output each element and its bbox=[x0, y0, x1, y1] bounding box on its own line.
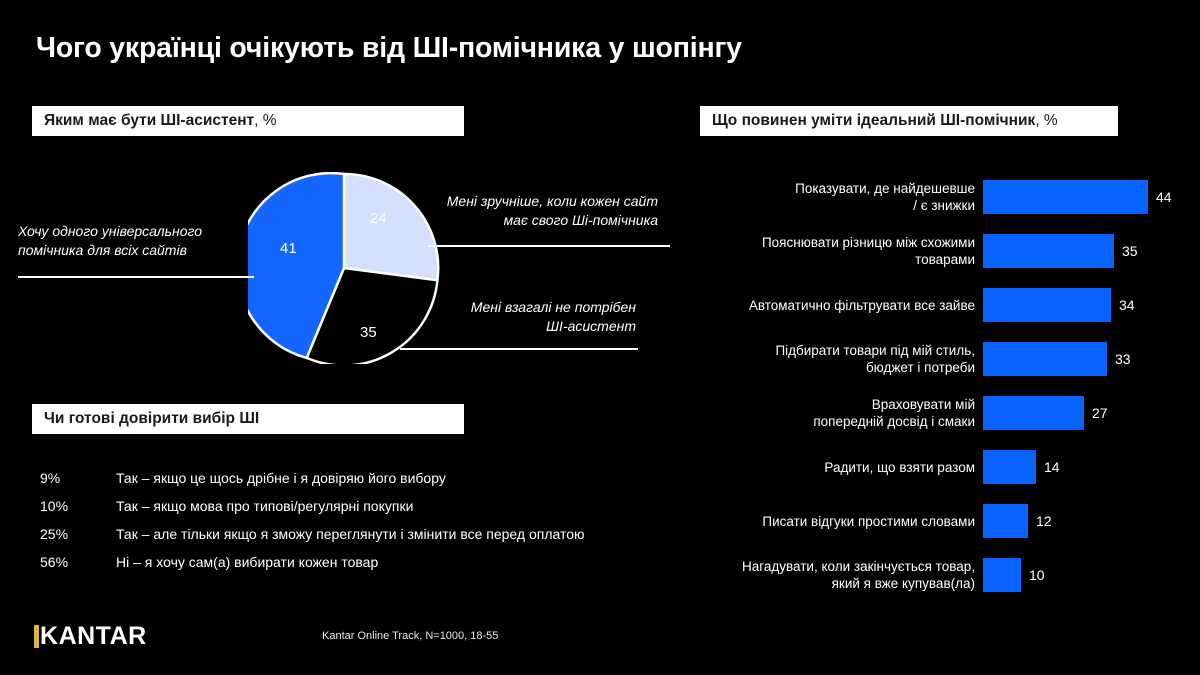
section-header-bars-text: Що повинен уміти ідеальний ШІ-помічник, … bbox=[712, 112, 1058, 130]
bar-chart: Показувати, де найдешевше/ є знижки44Поя… bbox=[700, 168, 1180, 612]
bar-label-line1: Пояснювати різницю між схожими bbox=[700, 234, 975, 251]
leader-line-left bbox=[18, 276, 254, 278]
bar-row: Підбирати товари під мій стиль,бюджет і … bbox=[700, 342, 1180, 376]
bar-track: 35 bbox=[983, 234, 1180, 268]
trust-row: 9%Так – якщо це щось дрібне і я довіряю … bbox=[40, 470, 680, 498]
bar-value: 12 bbox=[1036, 513, 1052, 529]
logo-text: KANTAR bbox=[40, 622, 147, 651]
bar-row: Писати відгуки простими словами12 bbox=[700, 504, 1180, 538]
pie-callout-top-right-line2: має свого Ші-помічника bbox=[430, 211, 658, 230]
bar-track: 34 bbox=[983, 288, 1180, 322]
bar-value: 33 bbox=[1115, 351, 1131, 367]
logo-text-rest: ANTAR bbox=[59, 622, 147, 650]
bar-label: Враховувати мійпопередній досвід і смаки bbox=[700, 396, 983, 430]
leader-line-bottom-right bbox=[400, 348, 638, 350]
bar-track: 10 bbox=[983, 558, 1180, 592]
pie-callout-bottom-right-line1: Мені взагалі не потрібен bbox=[418, 298, 636, 317]
trust-row-label: Так – якщо це щось дрібне і я довіряю йо… bbox=[116, 470, 446, 486]
section-header-pie-suffix: , % bbox=[254, 112, 276, 129]
bar-label: Писати відгуки простими словами bbox=[700, 513, 983, 530]
trust-row-label: Так – якщо мова про типові/регулярні пок… bbox=[116, 498, 413, 514]
trust-row-percent: 9% bbox=[40, 470, 116, 486]
bar-value: 35 bbox=[1122, 243, 1138, 259]
bar-label: Нагадувати, коли закінчується товар,який… bbox=[700, 558, 983, 592]
kantar-logo: KANTAR bbox=[34, 622, 147, 650]
pie-callout-top-right-line1: Мені зручніше, коли кожен сайт bbox=[430, 192, 658, 211]
bar-row: Показувати, де найдешевше/ є знижки44 bbox=[700, 180, 1180, 214]
bar-label-line2: бюджет і потреби bbox=[700, 359, 975, 376]
bar-label-line2: попередній досвід і смаки bbox=[700, 413, 975, 430]
pie-callout-bottom-right-line2: ШІ-асистент bbox=[418, 317, 636, 336]
trust-row: 56%Ні – я хочу сам(а) вибирати кожен тов… bbox=[40, 554, 680, 582]
section-header-trust-text: Чи готові довірити вибір ШІ bbox=[44, 410, 259, 428]
logo-gold-bar-icon bbox=[34, 625, 39, 648]
trust-row: 25%Так – але тільки якщо я зможу перегля… bbox=[40, 526, 680, 554]
page-title: Чого українці очікують від ШІ-помічника … bbox=[36, 32, 742, 65]
pie-callout-left: Хочу одного універсального помічника для… bbox=[18, 222, 238, 260]
bar-row: Враховувати мійпопередній досвід і смаки… bbox=[700, 396, 1180, 430]
bar-value: 34 bbox=[1119, 297, 1135, 313]
bar-fill bbox=[983, 504, 1028, 538]
section-header-bars-suffix: , % bbox=[1035, 112, 1057, 129]
bar-row: Нагадувати, коли закінчується товар,який… bbox=[700, 558, 1180, 592]
trust-row-percent: 10% bbox=[40, 498, 116, 514]
pie-chart-svg bbox=[248, 172, 440, 364]
leader-line-top-right bbox=[428, 245, 670, 247]
bar-label-line2: / є знижки bbox=[700, 197, 975, 214]
section-header-pie-main: Яким має бути ШІ-асистент bbox=[44, 112, 254, 129]
section-header-pie: Яким має бути ШІ-асистент, % bbox=[32, 106, 464, 136]
bar-track: 44 bbox=[983, 180, 1180, 214]
bar-value: 44 bbox=[1156, 189, 1172, 205]
bar-label: Підбирати товари під мій стиль,бюджет і … bbox=[700, 342, 983, 376]
trust-row-percent: 25% bbox=[40, 526, 116, 542]
bar-fill bbox=[983, 450, 1036, 484]
pie-callout-left-line1: Хочу одного універсального bbox=[18, 222, 238, 241]
section-header-bars-main: Що повинен уміти ідеальний ШІ-помічник bbox=[712, 112, 1035, 129]
trust-row-percent: 56% bbox=[40, 554, 116, 570]
trust-row: 10%Так – якщо мова про типові/регулярні … bbox=[40, 498, 680, 526]
bar-label-line1: Радити, що взяти разом bbox=[700, 459, 975, 476]
pie-chart: 24 35 41 bbox=[248, 172, 440, 364]
logo-text-k: K bbox=[40, 622, 59, 650]
bar-label-line1: Враховувати мій bbox=[700, 396, 975, 413]
pie-value-dark: 35 bbox=[360, 324, 377, 341]
section-header-trust-main: Чи готові довірити вибір ШІ bbox=[44, 410, 259, 427]
bar-value: 27 bbox=[1092, 405, 1108, 421]
bar-label-line1: Нагадувати, коли закінчується товар, bbox=[700, 558, 975, 575]
pie-callout-top-right: Мені зручніше, коли кожен сайт має свого… bbox=[430, 192, 658, 230]
bar-label: Пояснювати різницю між схожимитоварами bbox=[700, 234, 983, 268]
section-header-pie-text: Яким має бути ШІ-асистент, % bbox=[44, 112, 277, 130]
bar-row: Радити, що взяти разом14 bbox=[700, 450, 1180, 484]
bar-label-line2: товарами bbox=[700, 251, 975, 268]
bar-label-line1: Підбирати товари під мій стиль, bbox=[700, 342, 975, 359]
bar-fill bbox=[983, 558, 1021, 592]
bar-label-line1: Показувати, де найдешевше bbox=[700, 180, 975, 197]
trust-row-label: Так – але тільки якщо я зможу переглянут… bbox=[116, 526, 585, 542]
bar-row: Пояснювати різницю між схожимитоварами35 bbox=[700, 234, 1180, 268]
pie-value-light-blue: 24 bbox=[370, 210, 387, 227]
section-header-bars: Що повинен уміти ідеальний ШІ-помічник, … bbox=[700, 106, 1118, 136]
source-note: Kantar Online Track, N=1000, 18-55 bbox=[322, 630, 498, 642]
section-header-trust: Чи готові довірити вибір ШІ bbox=[32, 404, 464, 434]
trust-row-label: Ні – я хочу сам(а) вибирати кожен товар bbox=[116, 554, 378, 570]
bar-label-line1: Автоматично фільтрувати все зайве bbox=[700, 297, 975, 314]
bar-label: Показувати, де найдешевше/ є знижки bbox=[700, 180, 983, 214]
bar-track: 33 bbox=[983, 342, 1180, 376]
pie-callout-left-line2: помічника для всіх сайтів bbox=[18, 241, 238, 260]
bar-fill bbox=[983, 396, 1084, 430]
bar-track: 12 bbox=[983, 504, 1180, 538]
pie-value-blue: 41 bbox=[280, 240, 297, 257]
trust-list: 9%Так – якщо це щось дрібне і я довіряю … bbox=[40, 470, 680, 582]
bar-label-line2: який я вже купував(ла) bbox=[700, 575, 975, 592]
bar-fill bbox=[983, 342, 1107, 376]
bar-label: Автоматично фільтрувати все зайве bbox=[700, 297, 983, 314]
bar-track: 27 bbox=[983, 396, 1180, 430]
bar-track: 14 bbox=[983, 450, 1180, 484]
bar-fill bbox=[983, 180, 1148, 214]
bar-label-line1: Писати відгуки простими словами bbox=[700, 513, 975, 530]
pie-callout-bottom-right: Мені взагалі не потрібен ШІ-асистент bbox=[418, 298, 636, 336]
bar-value: 10 bbox=[1029, 567, 1045, 583]
infographic-page: Чого українці очікують від ШІ-помічника … bbox=[0, 0, 1200, 675]
bar-value: 14 bbox=[1044, 459, 1060, 475]
bar-row: Автоматично фільтрувати все зайве34 bbox=[700, 288, 1180, 322]
bar-fill bbox=[983, 288, 1111, 322]
bar-fill bbox=[983, 234, 1114, 268]
pie-slice-light-blue bbox=[344, 174, 438, 280]
bar-label: Радити, що взяти разом bbox=[700, 459, 983, 476]
